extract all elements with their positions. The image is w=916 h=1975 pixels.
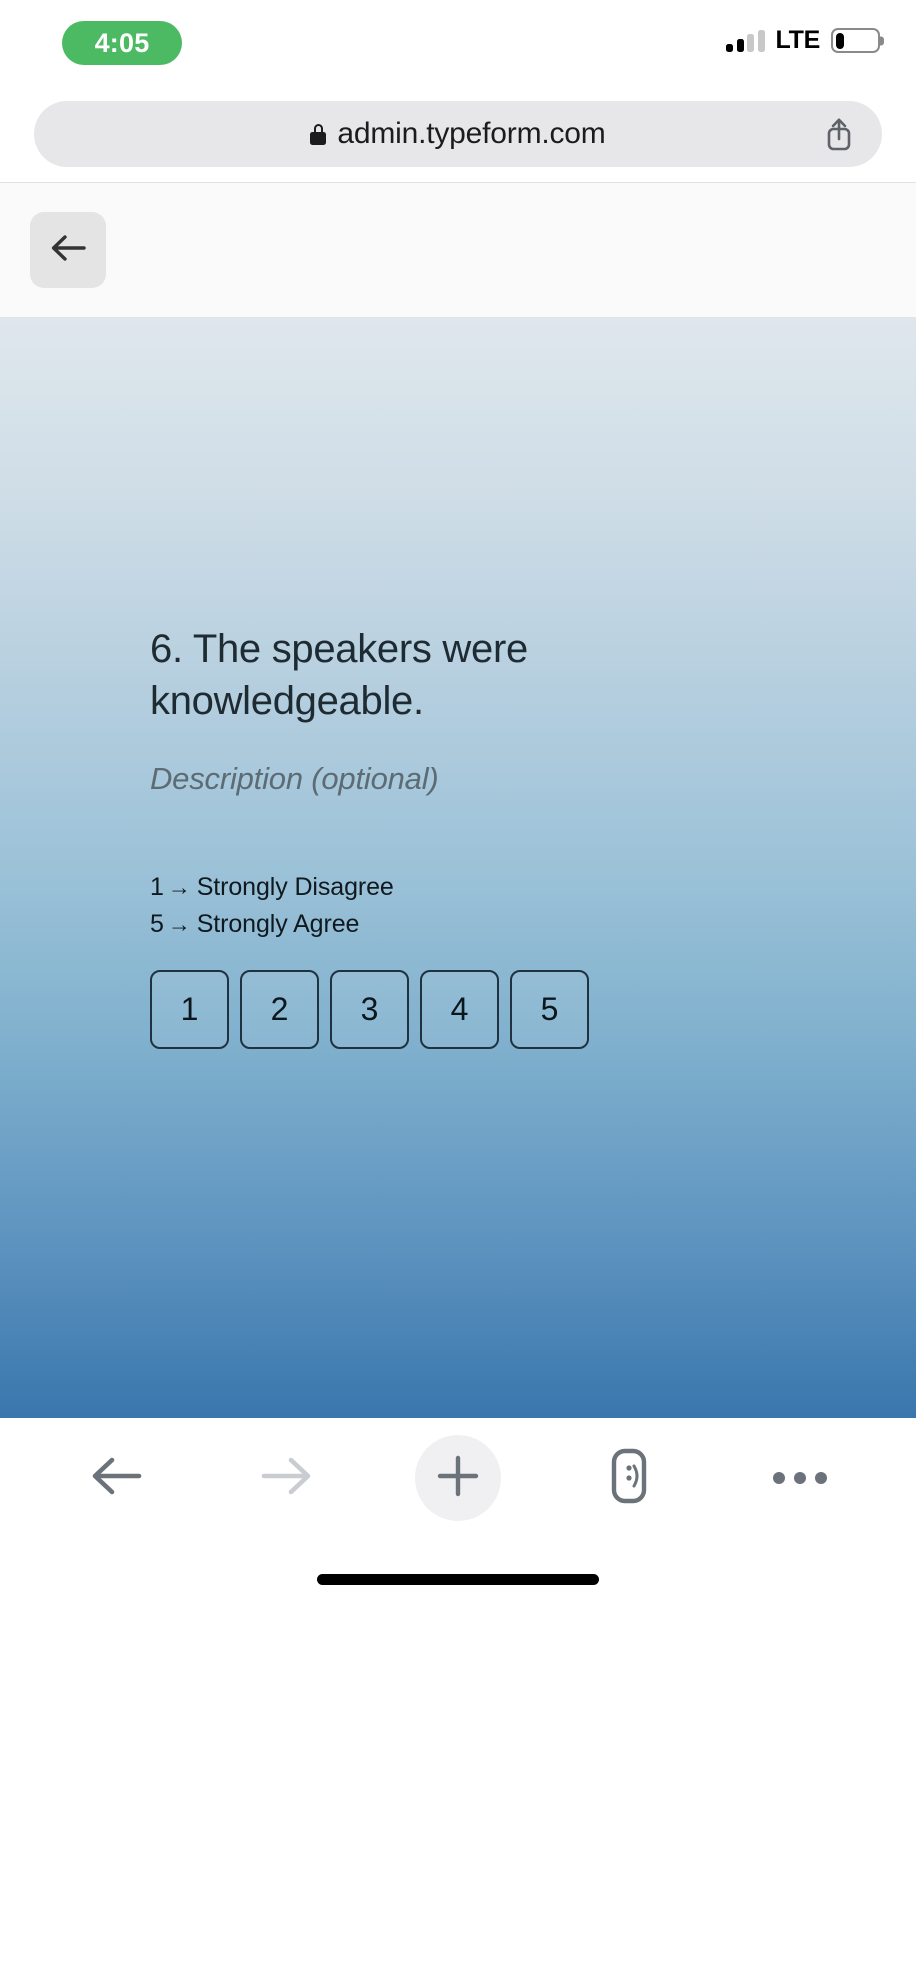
scale-legend: 1 → Strongly Disagree 5 → Strongly Agree bbox=[150, 869, 806, 943]
address-bar-content: admin.typeform.com bbox=[310, 117, 605, 151]
rating-option-4[interactable]: 4 bbox=[420, 970, 499, 1049]
arrow-right-icon: → bbox=[168, 870, 191, 904]
arrow-right-icon bbox=[260, 1454, 314, 1503]
form-back-button[interactable] bbox=[30, 212, 106, 288]
browser-bottom-toolbar bbox=[0, 1418, 916, 1538]
app-header bbox=[0, 182, 916, 318]
ellipsis-icon bbox=[773, 1472, 827, 1484]
arrow-left-icon bbox=[49, 233, 87, 268]
form-canvas: 6. The speakers were knowledgeable. Desc… bbox=[0, 318, 916, 1418]
legend-max-number: 5 bbox=[150, 906, 164, 943]
browser-smiley-button[interactable] bbox=[586, 1435, 672, 1521]
status-time: 4:05 bbox=[95, 28, 150, 59]
legend-row-min: 1 → Strongly Disagree bbox=[150, 869, 806, 906]
question-title[interactable]: 6. The speakers were knowledgeable. bbox=[150, 623, 806, 727]
form-content: 6. The speakers were knowledgeable. Desc… bbox=[150, 623, 806, 1049]
smiley-icon bbox=[601, 1445, 657, 1512]
lock-icon bbox=[310, 124, 326, 145]
home-indicator-area bbox=[0, 1538, 916, 1621]
status-time-pill[interactable]: 4:05 bbox=[62, 21, 182, 65]
browser-url-bar-container: admin.typeform.com bbox=[0, 86, 916, 182]
arrow-left-icon bbox=[89, 1454, 143, 1503]
battery-icon bbox=[831, 28, 880, 53]
legend-row-max: 5 → Strongly Agree bbox=[150, 906, 806, 943]
carrier-type-label: LTE bbox=[776, 28, 820, 53]
rating-option-2[interactable]: 2 bbox=[240, 970, 319, 1049]
rating-option-1[interactable]: 1 bbox=[150, 970, 229, 1049]
address-bar[interactable]: admin.typeform.com bbox=[34, 101, 882, 167]
browser-forward-button[interactable] bbox=[244, 1435, 330, 1521]
browser-more-button[interactable] bbox=[757, 1435, 843, 1521]
url-text: admin.typeform.com bbox=[337, 117, 605, 151]
rating-option-3[interactable]: 3 bbox=[330, 970, 409, 1049]
legend-min-label: Strongly Disagree bbox=[197, 869, 394, 906]
home-indicator[interactable] bbox=[317, 1574, 599, 1585]
share-icon[interactable] bbox=[824, 116, 854, 152]
arrow-right-icon: → bbox=[168, 907, 191, 941]
rating-scale: 1 2 3 4 5 bbox=[150, 970, 806, 1049]
legend-max-label: Strongly Agree bbox=[197, 906, 360, 943]
status-bar: 4:05 LTE bbox=[0, 0, 916, 86]
browser-back-button[interactable] bbox=[73, 1435, 159, 1521]
cellular-signal-icon bbox=[726, 30, 765, 52]
plus-icon bbox=[434, 1452, 482, 1505]
legend-min-number: 1 bbox=[150, 869, 164, 906]
status-indicators: LTE bbox=[726, 28, 880, 53]
browser-new-tab-button[interactable] bbox=[415, 1435, 501, 1521]
rating-option-5[interactable]: 5 bbox=[510, 970, 589, 1049]
question-description-placeholder[interactable]: Description (optional) bbox=[150, 761, 806, 797]
